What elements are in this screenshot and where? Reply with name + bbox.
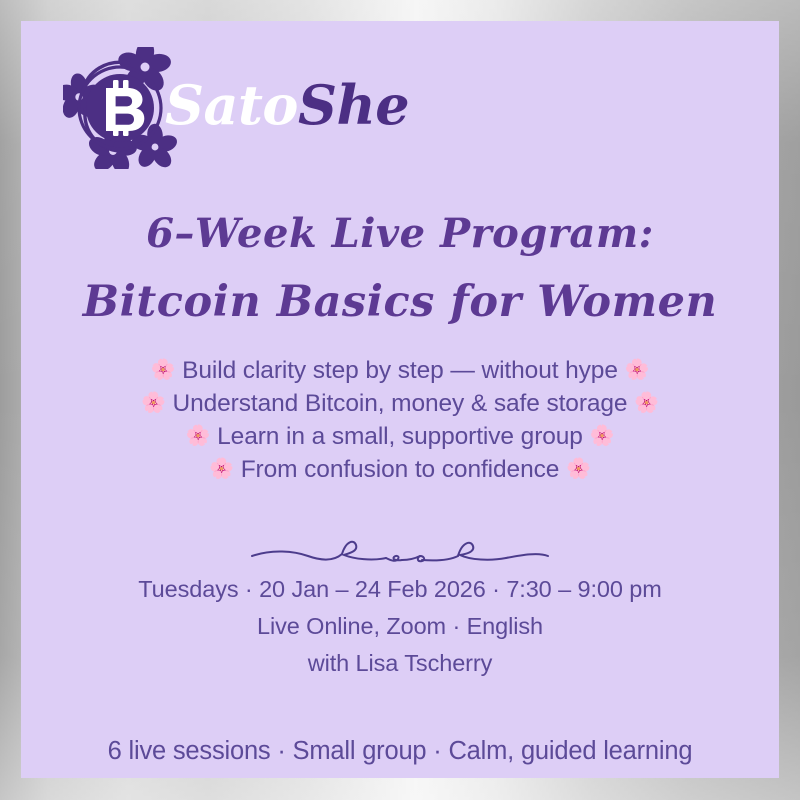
blossom-icon: 🌸 (209, 458, 234, 480)
blossom-icon: 🌸 (590, 425, 615, 447)
list-item: 🌸 Understand Bitcoin, money & safe stora… (21, 387, 779, 420)
flourish-divider-icon (250, 529, 550, 571)
bitcoin-blossom-logo-icon (63, 47, 181, 169)
detail-format: Live Online, Zoom · English (21, 608, 779, 645)
list-item-label: Learn in a small, supportive group (217, 423, 583, 450)
blossom-icon: 🌸 (566, 458, 591, 480)
title-line-1: 6–Week Live Program: (21, 203, 779, 265)
list-item: 🌸 Learn in a small, supportive group 🌸 (21, 420, 779, 453)
blossom-icon: 🌸 (141, 392, 166, 414)
footer-summary: 6 live sessions · Small group · Calm, gu… (21, 734, 779, 768)
page-title: 6–Week Live Program: Bitcoin Basics for … (21, 203, 779, 339)
detail-instructor: with Lisa Tscherry (21, 645, 779, 682)
list-item: 🌸 Build clarity step by step — without h… (21, 354, 779, 387)
brand-wordmark: SatoShe (165, 67, 409, 143)
blossom-icon: 🌸 (151, 359, 176, 381)
list-item-label: From confusion to confidence (241, 456, 560, 483)
brand-logo[interactable]: SatoShe (63, 43, 363, 171)
wordmark-sato: Sato (165, 73, 298, 137)
blossom-icon: 🌸 (186, 425, 211, 447)
title-line-2: Bitcoin Basics for Women (21, 265, 779, 339)
list-item-label: Build clarity step by step — without hyp… (182, 357, 618, 384)
poster-panel: SatoShe 6–Week Live Program: Bitcoin Bas… (21, 21, 779, 778)
event-details: Tuesdays · 20 Jan – 24 Feb 2026 · 7:30 –… (21, 571, 779, 682)
blossom-icon: 🌸 (634, 392, 659, 414)
detail-schedule: Tuesdays · 20 Jan – 24 Feb 2026 · 7:30 –… (21, 571, 779, 608)
blossom-icon: 🌸 (625, 359, 650, 381)
list-item-label: Understand Bitcoin, money & safe storage (173, 390, 628, 417)
poster-frame: SatoShe 6–Week Live Program: Bitcoin Bas… (0, 0, 800, 800)
wordmark-she: She (298, 73, 409, 137)
list-item: 🌸 From confusion to confidence 🌸 (21, 453, 779, 486)
benefits-list: 🌸 Build clarity step by step — without h… (21, 354, 779, 486)
